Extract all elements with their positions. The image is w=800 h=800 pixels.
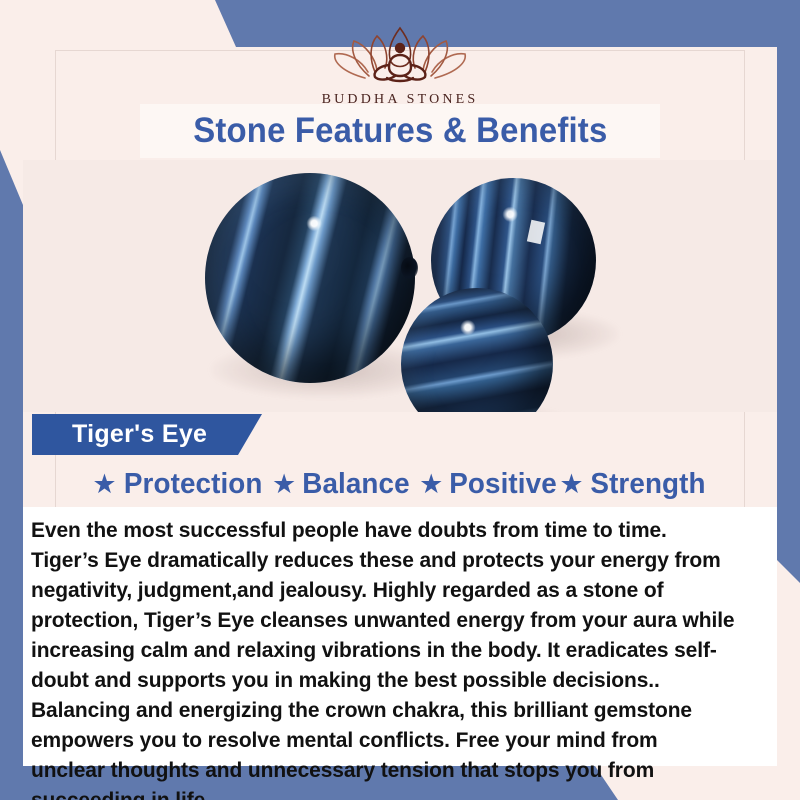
benefit-item-protection: ★ Protection bbox=[92, 468, 265, 501]
page-title: Stone Features & Benefits bbox=[193, 111, 607, 151]
benefit-label: Strength bbox=[590, 468, 705, 501]
description-block: Even the most successful people have dou… bbox=[23, 507, 777, 766]
brand-logo: BUDDHA STONES bbox=[0, 18, 800, 108]
star-icon: ★ bbox=[272, 471, 296, 498]
benefit-label: Balance bbox=[302, 468, 409, 501]
benefit-item-positive: ★ Positive bbox=[419, 468, 559, 501]
star-icon: ★ bbox=[559, 471, 583, 498]
benefit-item-balance: ★ Balance bbox=[272, 468, 412, 501]
stone-name-ribbon: Tiger's Eye bbox=[32, 414, 262, 455]
title-banner: Stone Features & Benefits bbox=[140, 104, 660, 158]
star-icon: ★ bbox=[92, 471, 116, 498]
frame-left-bar bbox=[0, 150, 23, 800]
description-paragraph: Even the most successful people have dou… bbox=[31, 515, 735, 800]
benefit-label: Positive bbox=[450, 468, 558, 501]
stone-name-label: Tiger's Eye bbox=[72, 420, 207, 449]
benefit-item-strength: ★ Strength bbox=[559, 468, 707, 501]
poster-root: BUDDHA STONES Stone Features & Benefits … bbox=[0, 0, 800, 800]
benefit-label: Protection bbox=[123, 468, 262, 501]
large-bead bbox=[205, 173, 415, 383]
gemstone-photo bbox=[23, 160, 777, 412]
bead-drill-hole bbox=[401, 257, 418, 279]
benefits-row: ★ Protection ★ Balance ★ Positive ★ Stre… bbox=[23, 462, 777, 506]
star-icon: ★ bbox=[419, 471, 443, 498]
lotus-meditation-icon bbox=[325, 18, 475, 90]
